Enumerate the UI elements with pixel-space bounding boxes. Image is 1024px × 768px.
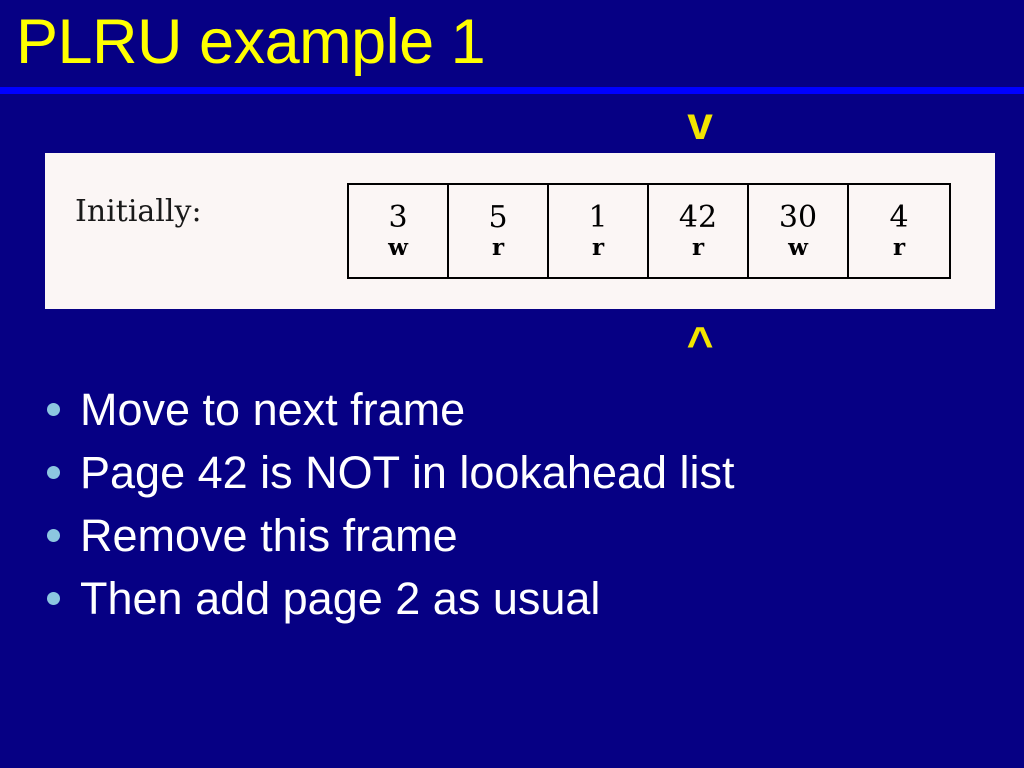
list-item: Remove this frame [38,504,998,567]
frame-page-number: 5 [488,202,507,234]
list-item-label: Then add page 2 as usual [68,573,600,625]
frame-page-number: 3 [388,202,407,234]
frame-cell: 5 r [449,185,549,277]
list-item: Then add page 2 as usual [38,567,998,630]
bullet-dot-icon [38,466,68,479]
frame-access-flag: w [788,236,808,260]
figure-panel: Initially: 3 w 5 r 1 r 42 r 30 w [45,153,995,309]
list-item-label: Move to next frame [68,384,465,436]
slide-canvas: PLRU example 1 v Initially: 3 w 5 r 1 r … [0,0,1024,768]
page-title: PLRU example 1 [16,0,485,86]
frame-page-number: 4 [889,202,908,234]
list-item: Move to next frame [38,378,998,441]
up-caret-marker-icon: ^ [670,320,730,366]
figure-label: Initially: [75,195,202,229]
frame-page-number: 1 [588,202,607,234]
frame-page-number: 30 [779,202,817,234]
frame-page-number: 42 [679,202,717,234]
frame-cell: 42 r [649,185,749,277]
frame-access-flag: r [692,236,704,260]
frame-cell: 1 r [549,185,649,277]
frame-table: 3 w 5 r 1 r 42 r 30 w 4 r [347,183,951,279]
frame-access-flag: r [592,236,604,260]
frame-access-flag: r [492,236,504,260]
list-item-label: Remove this frame [68,510,458,562]
list-item: Page 42 is NOT in lookahead list [38,441,998,504]
frame-access-flag: w [388,236,408,260]
bullet-list: Move to next frame Page 42 is NOT in loo… [38,378,998,630]
down-caret-marker-icon: v [670,100,730,146]
frame-cell: 4 r [849,185,949,277]
frame-access-flag: r [893,236,905,260]
bullet-dot-icon [38,403,68,416]
title-divider [0,87,1024,94]
bullet-dot-icon [38,592,68,605]
bullet-dot-icon [38,529,68,542]
frame-cell: 30 w [749,185,849,277]
list-item-label: Page 42 is NOT in lookahead list [68,447,735,499]
frame-cell: 3 w [349,185,449,277]
